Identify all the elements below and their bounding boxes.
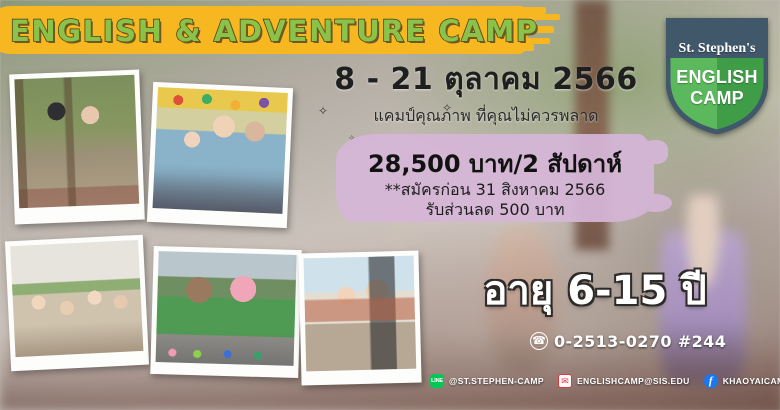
photo-image bbox=[153, 87, 288, 214]
camp-tagline: แคมป์คุณภาพ ที่คุณไม่ควรพลาด bbox=[300, 104, 672, 129]
phone-contact[interactable]: ☎ 0-2513-0270 #244 bbox=[530, 330, 726, 352]
photo-outdoor-ropes bbox=[9, 70, 145, 225]
age-range: อายุ 6-15 ปี bbox=[430, 258, 760, 322]
phone-icon: ☎ bbox=[530, 332, 548, 350]
photo-image bbox=[14, 75, 139, 209]
logo-school-name: St. Stephen's bbox=[666, 41, 768, 57]
social-link-line[interactable]: LINE @ST.STEPHEN-CAMP bbox=[430, 374, 544, 388]
facebook-handle: KHAOYAICAMPSIS bbox=[723, 376, 780, 386]
phone-number: 0-2513-0270 #244 bbox=[554, 332, 726, 351]
camp-dates: 8 - 21 ตุลาคม 2566 bbox=[300, 56, 672, 103]
social-links-bar: LINE @ST.STEPHEN-CAMP ✉ ENGLISHCAMP@SIS.… bbox=[430, 370, 780, 392]
line-icon: LINE bbox=[430, 374, 444, 388]
logo-english-text: ENGLISH bbox=[666, 67, 768, 88]
camp-promo-poster: ENGLISH & ADVENTURE CAMP St. Stephen's E… bbox=[0, 0, 780, 410]
social-link-facebook[interactable]: f KHAOYAICAMPSIS bbox=[704, 374, 780, 388]
school-logo: St. Stephen's ENGLISH CAMP bbox=[666, 18, 768, 134]
photo-image bbox=[304, 256, 417, 372]
poster-title: ENGLISH & ADVENTURE CAMP bbox=[10, 14, 539, 48]
line-handle: @ST.STEPHEN-CAMP bbox=[449, 376, 544, 386]
headline-banner: ENGLISH & ADVENTURE CAMP bbox=[0, 6, 576, 54]
photo-teacher-student bbox=[298, 251, 421, 386]
price-callout: 28,500 บาท/2 สัปดาห์ **สมัครก่อน 31 สิงห… bbox=[336, 134, 654, 222]
photo-image bbox=[10, 240, 143, 357]
photo-mascot-bears bbox=[150, 246, 302, 378]
photo-image bbox=[156, 251, 297, 366]
email-icon: ✉ bbox=[558, 374, 572, 388]
email-address: ENGLISHCAMP@SIS.EDU bbox=[577, 376, 690, 386]
logo-camp-text: CAMP bbox=[666, 88, 768, 109]
early-bird-discount: รับส่วนลด 500 บาท bbox=[336, 198, 654, 223]
facebook-icon: f bbox=[704, 374, 718, 388]
photo-costume-party bbox=[147, 82, 293, 228]
photo-classroom-group bbox=[5, 235, 149, 372]
social-link-email[interactable]: ✉ ENGLISHCAMP@SIS.EDU bbox=[558, 374, 690, 388]
